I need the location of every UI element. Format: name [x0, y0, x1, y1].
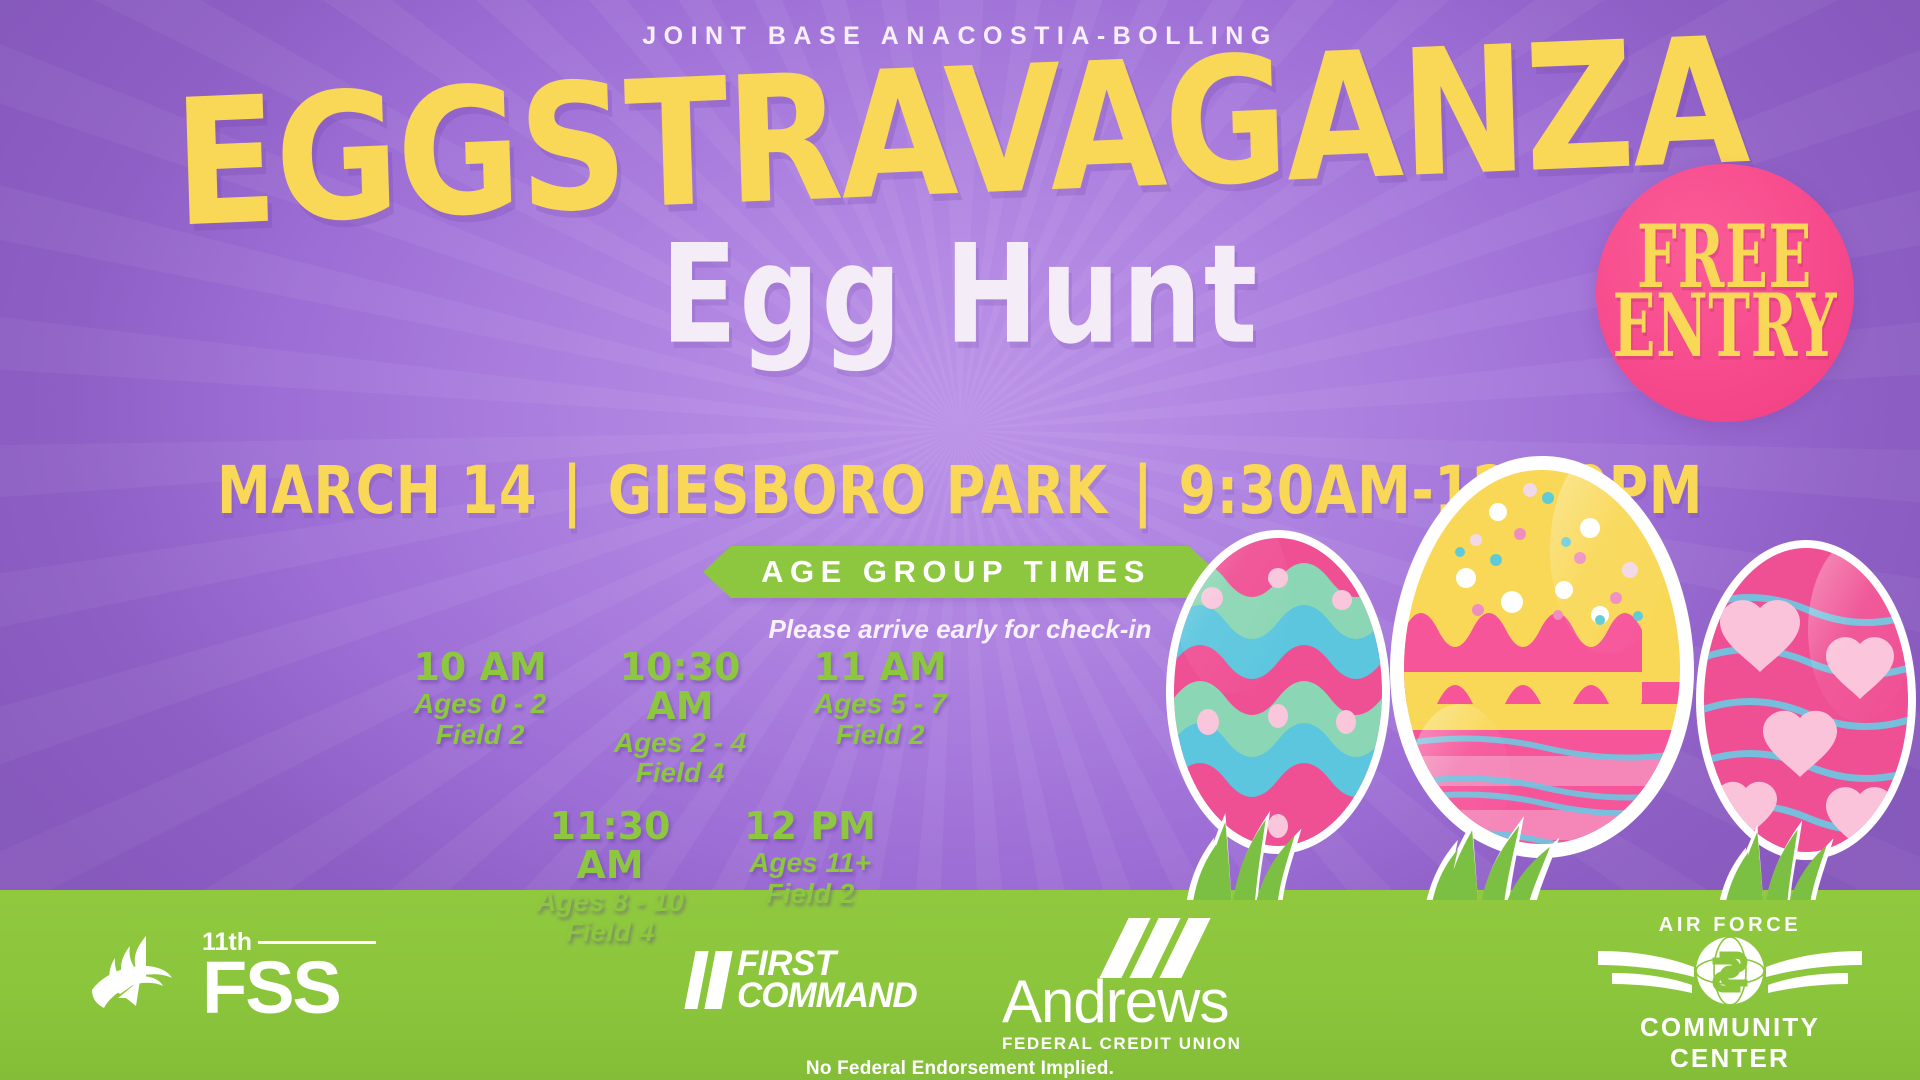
slot-time: 10 AM — [380, 648, 580, 687]
flame-swoosh-icon — [88, 932, 188, 1018]
logo-first-command: FIRST COMMAND — [690, 948, 917, 1012]
endorsement-disclaimer: No Federal Endorsement Implied. — [0, 1058, 1920, 1080]
title-main-text: EGGSTRAVAGANZA — [171, 21, 1749, 245]
logo-air-force-community-center: AIR FORCE COMMUNITY CENTER — [1590, 914, 1870, 1074]
andrews-subtitle: FEDERAL CREDIT UNION — [1002, 1034, 1241, 1054]
eggs-svg — [1160, 430, 1920, 900]
slot-ages: Ages 11+ — [710, 848, 910, 879]
easter-eggs-illustration — [1160, 430, 1920, 900]
slot-time: 10:30 AM — [580, 648, 780, 726]
pink-heart-egg — [1690, 530, 1920, 880]
slot-field: Field 2 — [780, 720, 980, 751]
slot-ages: Ages 2 - 4 — [580, 728, 780, 759]
slot-time: 11:30 AM — [510, 807, 710, 885]
slot-time: 12 PM — [710, 807, 910, 846]
first-command-bars-icon — [690, 951, 727, 1009]
winged-globe-icon — [1590, 933, 1870, 1007]
first-command-line-2: COMMAND — [737, 980, 917, 1012]
slot-time: 11 AM — [780, 648, 980, 687]
age-group-slot: 10:30 AM Ages 2 - 4 Field 4 — [580, 648, 780, 789]
first-command-wordmark: FIRST COMMAND — [737, 948, 917, 1012]
details-separator-2: | — [1127, 452, 1159, 529]
event-location: GIESBORO PARK — [608, 452, 1108, 529]
age-group-slot: 11 AM Ages 5 - 7 Field 2 — [780, 648, 980, 789]
slot-ages: Ages 5 - 7 — [780, 689, 980, 720]
free-entry-line-2: ENTRY — [1613, 289, 1838, 366]
fss-acronym: FSS — [202, 956, 376, 1020]
event-poster: JOINT BASE ANACOSTIA-BOLLING EGGSTRAVAGA… — [0, 0, 1920, 1080]
logo-andrews-fcu: Andrews FEDERAL CREDIT UNION — [1002, 918, 1241, 1054]
ribbon-label: AGE GROUP TIMES — [761, 554, 1151, 590]
free-entry-badge: FREE ENTRY — [1596, 164, 1854, 422]
slot-ages: Ages 0 - 2 — [380, 689, 580, 720]
teal-wave-egg — [1160, 502, 1400, 870]
age-group-row-1: 10 AM Ages 0 - 2 Field 2 10:30 AM Ages 2… — [380, 648, 1040, 789]
details-separator-1: | — [556, 452, 588, 529]
slot-field: Field 4 — [580, 758, 780, 789]
ribbon-shape: AGE GROUP TIMES — [731, 546, 1189, 598]
yellow-pink-egg — [1366, 446, 1700, 870]
age-group-slot: 10 AM Ages 0 - 2 Field 2 — [380, 648, 580, 789]
slot-field: Field 2 — [380, 720, 580, 751]
fss-wordmark: 11th FSS — [202, 930, 376, 1020]
event-date: MARCH 14 — [217, 452, 537, 529]
andrews-name: Andrews — [1002, 972, 1241, 1032]
fss-rule-line — [258, 941, 376, 944]
page-title: EGGSTRAVAGANZA — [0, 50, 1920, 211]
sponsor-footer: 11th FSS FIRST COMMAND Andrews FEDERAL C… — [0, 890, 1920, 1080]
logo-11th-fss: 11th FSS — [88, 930, 376, 1020]
